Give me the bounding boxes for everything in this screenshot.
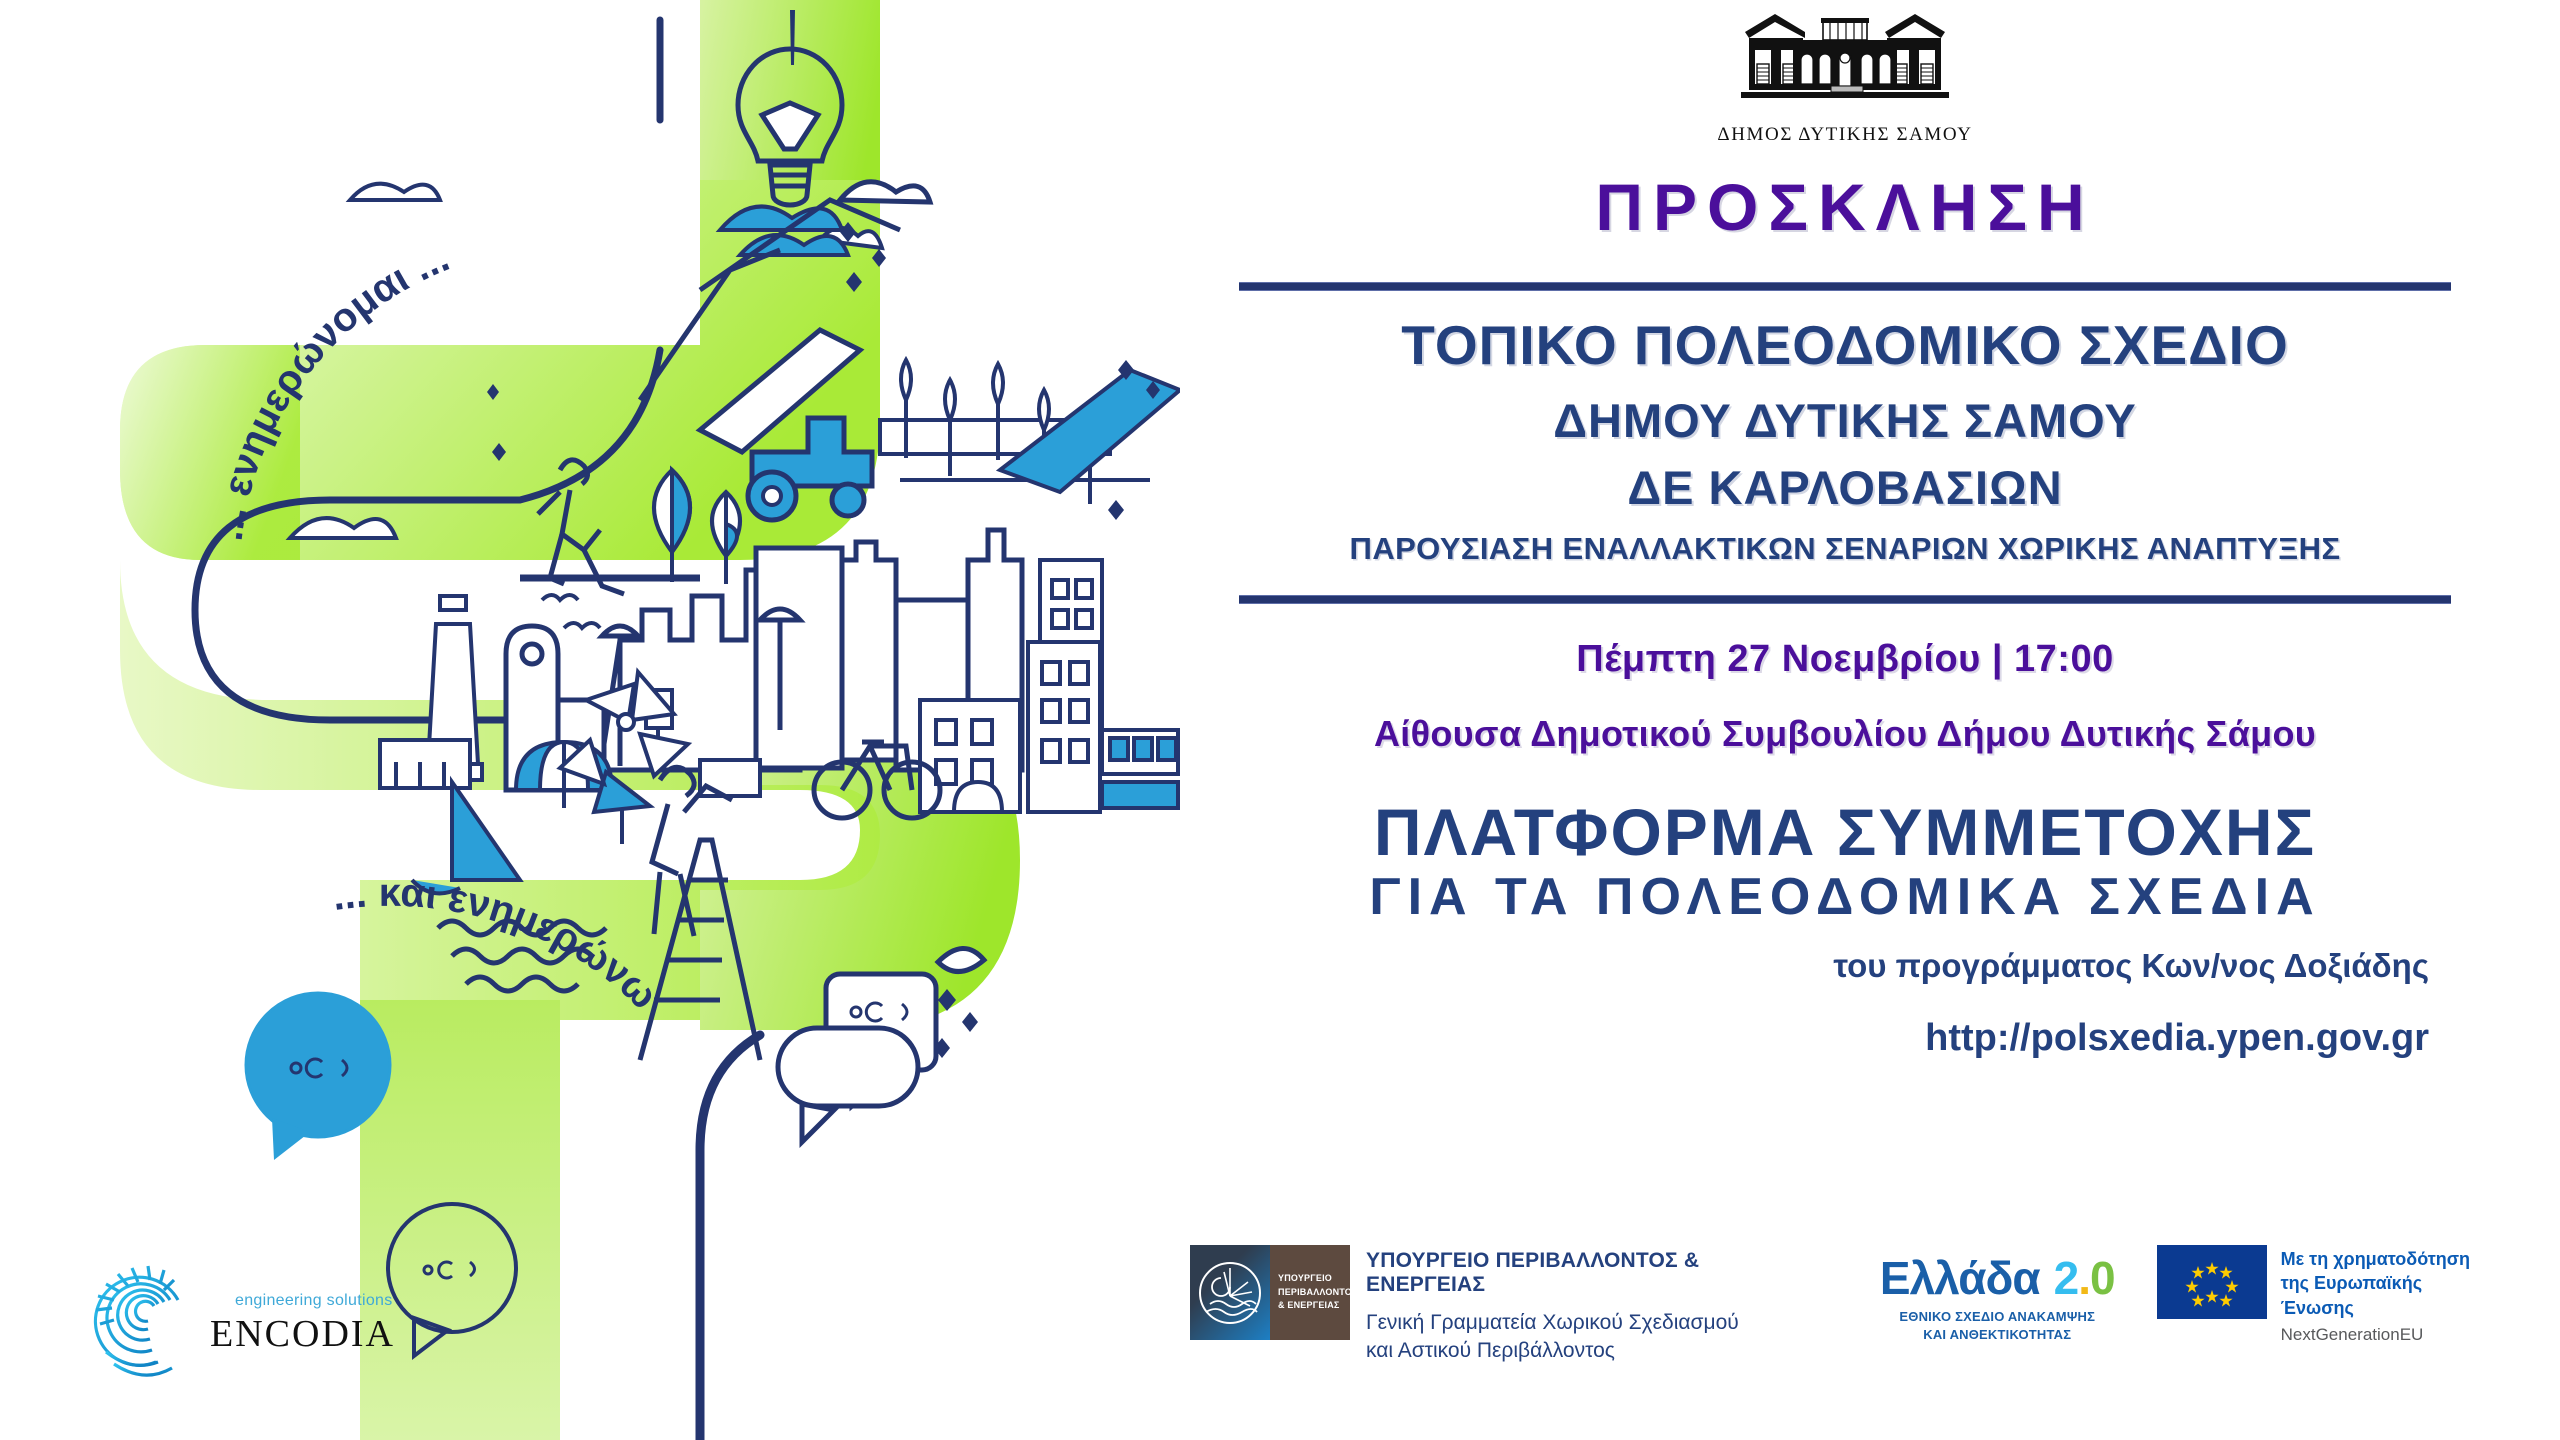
greece20-word: Ελλάδα bbox=[1880, 1251, 2040, 1305]
ypen-ministry-name: ΥΠΟΥΡΓΕΙΟ ΠΕΡΙΒΑΛΛΟΝΤΟΣ & ΕΝΕΡΓΕΙΑΣ bbox=[1366, 1249, 1824, 1297]
event-datetime: Πέμπτη 27 Νοεμβρίου | 17:00 bbox=[1576, 638, 2113, 681]
platform-line2: ΓΙΑ ΤΑ ΠΟΛΕΟΔΟΜΙΚΑ ΣΧΕΔΙΑ bbox=[1239, 870, 2451, 925]
eu-flag-icon bbox=[2157, 1245, 2267, 1319]
greece20-sub1: ΕΘΝΙΚΟ ΣΧΕΔΙΟ ΑΝΑΚΑΜΨΗΣ bbox=[1880, 1308, 2115, 1326]
page-title: ΠΡΟΣΚΛΗΣΗ bbox=[1595, 174, 2094, 240]
greece20-sub2: ΚΑΙ ΑΝΘΕΚΤΙΚΟΤΗΤΑΣ bbox=[1880, 1326, 2115, 1344]
shop-icon bbox=[1102, 730, 1178, 808]
ypen-secretariat-line2: και Αστικού Περιβάλλοντος bbox=[1366, 1337, 1824, 1365]
platform-line1: ΠΛΑΤΦΟΡΜΑ ΣΥΜΜΕΤΟΧΗΣ bbox=[1239, 799, 2451, 866]
funding-logos: ΥΠΟΥΡΓΕΙΟ ΠΕΡΙΒΑΛΛΟΝΤΟΣ & ΕΝΕΡΓΕΙΑΣ ΥΠΟΥ… bbox=[1190, 1245, 2500, 1375]
greece20-two: 2 bbox=[2054, 1251, 2079, 1305]
speech-bubble-icon bbox=[778, 1028, 918, 1142]
platform-block: ΠΛΑΤΦΟΡΜΑ ΣΥΜΜΕΤΟΧΗΣ ΓΙΑ ΤΑ ΠΟΛΕΟΔΟΜΙΚΑ … bbox=[1239, 799, 2451, 1060]
platform-url-link[interactable]: http://polsxedia.ypen.gov.gr bbox=[1239, 1017, 2451, 1060]
eu-funding-logo: Με τη χρηματοδότηση της Ευρωπαϊκής Ένωση… bbox=[2157, 1245, 2500, 1345]
eu-funding-line1: Με τη χρηματοδότηση bbox=[2281, 1247, 2500, 1271]
plan-title-line3: ΔΕ ΚΑΡΛΟΒΑΣΙΩΝ bbox=[1627, 460, 2062, 515]
greece20-dot: . bbox=[2078, 1251, 2090, 1305]
ypen-mark-label: ΥΠΟΥΡΓΕΙΟ ΠΕΡΙΒΑΛΛΟΝΤΟΣ & ΕΝΕΡΓΕΙΑΣ bbox=[1278, 1272, 1358, 1313]
event-venue: Αίθουσα Δημοτικού Συμβουλίου Δήμου Δυτικ… bbox=[1374, 713, 2316, 755]
ypen-mark-icon: ΥΠΟΥΡΓΕΙΟ ΠΕΡΙΒΑΛΛΟΝΤΟΣ & ΕΝΕΡΓΕΙΑΣ bbox=[1190, 1245, 1350, 1340]
divider-top bbox=[1239, 282, 2451, 291]
greece20-zero: 0 bbox=[2090, 1251, 2115, 1305]
ypen-secretariat-line1: Γενική Γραμματεία Χωρικού Σχεδιασμού bbox=[1366, 1309, 1824, 1337]
encodia-name: ENCODIA bbox=[210, 1312, 395, 1356]
nautilus-spiral-icon bbox=[70, 1240, 230, 1380]
invitation-poster: ... ενημερώνομαι ... bbox=[0, 0, 2560, 1440]
rock-icon bbox=[840, 182, 930, 202]
encodia-tagline: engineering solutions bbox=[235, 1292, 393, 1310]
ypen-logo: ΥΠΟΥΡΓΕΙΟ ΠΕΡΙΒΑΛΛΟΝΤΟΣ & ΕΝΕΡΓΕΙΑΣ ΥΠΟΥ… bbox=[1190, 1245, 1824, 1366]
content-column: ΔΗΜΟΣ ΔΥΤΙΚΗΣ ΣΑΜΟΥ ΠΡΟΣΚΛΗΣΗ ΤΟΠΙΚΟ ΠΟΛ… bbox=[1200, 0, 2490, 1440]
greece20-logo: Ελλάδα 2 . 0 ΕΘΝΙΚΟ ΣΧΕΔΙΟ ΑΝΑΚΑΜΨΗΣ ΚΑΙ… bbox=[1880, 1245, 2115, 1344]
platform-programme: του προγράμματος Κων/νος Δοξιάδης bbox=[1239, 947, 2451, 985]
neoclassical-building-icon bbox=[1735, 8, 1955, 120]
divider-bottom bbox=[1239, 595, 2451, 604]
encodia-logo: engineering solutions ENCODIA bbox=[70, 1240, 410, 1380]
birds-icon bbox=[542, 595, 600, 628]
plan-title-line1: ΤΟΠΙΚΟ ΠΟΛΕΟΔΟΜΙΚΟ ΣΧΕΔΙΟ bbox=[1401, 313, 2289, 377]
harbour-icon bbox=[380, 740, 470, 788]
plan-title-line2: ΔΗΜΟΥ ΔΥΤΙΚΗΣ ΣΑΜΟΥ bbox=[1553, 393, 2136, 448]
illustration-panel: ... ενημερώνομαι ... bbox=[0, 0, 1180, 1440]
eu-nextgen-label: NextGenerationEU bbox=[2281, 1325, 2500, 1345]
eu-funding-line2: της Ευρωπαϊκής Ένωσης bbox=[2281, 1271, 2500, 1320]
crest-label: ΔΗΜΟΣ ΔΥΤΙΚΗΣ ΣΑΜΟΥ bbox=[1717, 124, 1972, 146]
plan-subtitle: ΠΑΡΟΥΣΙΑΣΗ ΕΝΑΛΛΑΚΤΙΚΩΝ ΣΕΝΑΡΙΩΝ ΧΩΡΙΚΗΣ… bbox=[1350, 531, 2341, 567]
municipality-crest: ΔΗΜΟΣ ΔΥΤΙΚΗΣ ΣΑΜΟΥ bbox=[1680, 8, 2010, 158]
